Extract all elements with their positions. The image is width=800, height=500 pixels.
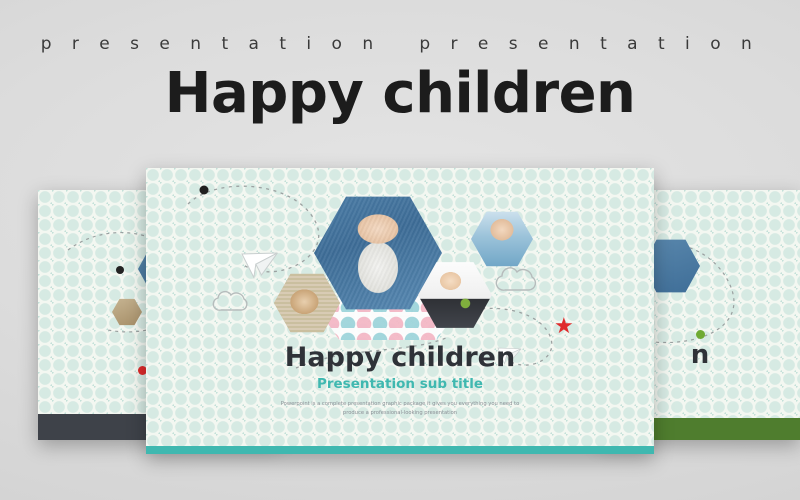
slide-bottom-bar — [146, 446, 654, 454]
decor-dot-green — [696, 330, 705, 339]
slide-body-text: Powerpoint is a complete presentation gr… — [274, 400, 526, 418]
header-eyebrow: p r e s e n t a t i o n p r e s e n t a … — [0, 34, 800, 54]
slide-title: Happy children — [146, 342, 654, 373]
decor-dot-black — [116, 266, 124, 274]
page-title: Happy children — [0, 66, 800, 122]
slide-subtitle: Presentation sub title — [146, 376, 654, 392]
slide-main[interactable]: ★ Happy children Presentation sub title … — [146, 168, 654, 454]
page-header: p r e s e n t a t i o n p r e s e n t a … — [0, 0, 800, 122]
star-icon: ★ — [554, 316, 574, 338]
screenshot-stage: p r e s e n t a t i o n p r e s e n t a … — [0, 0, 800, 500]
